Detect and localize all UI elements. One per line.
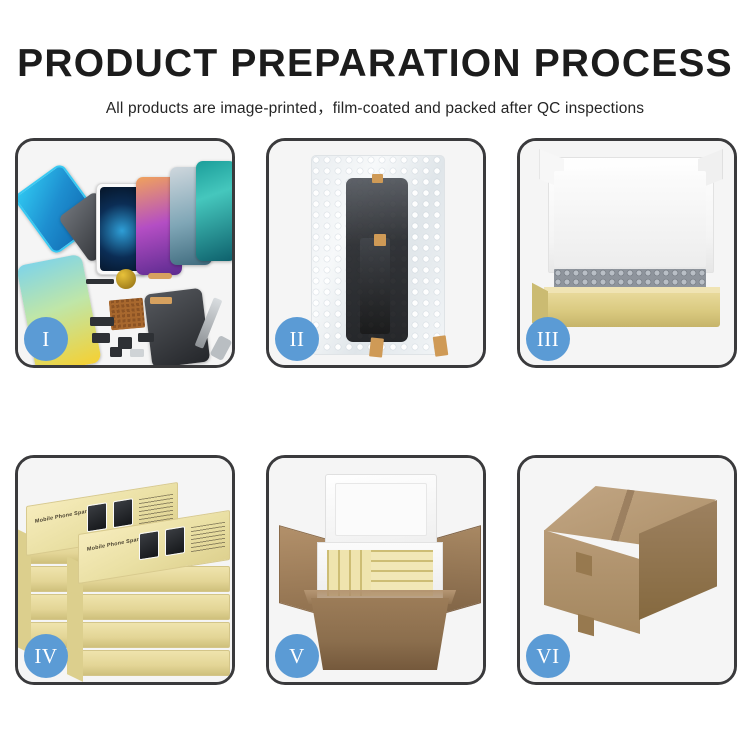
process-step-6: VI — [517, 455, 737, 685]
step-badge-3: III — [526, 317, 570, 361]
tape-icon — [374, 234, 386, 246]
sim-tray-icon — [130, 349, 144, 357]
process-step-5: V — [266, 455, 486, 685]
small-part-icon — [90, 317, 114, 326]
process-step-2: II — [266, 138, 486, 368]
page-title: PRODUCT PREPARATION PROCESS — [0, 0, 750, 83]
box-label-phone-icon — [113, 498, 133, 528]
box-label-phone-icon — [165, 526, 185, 556]
foam-box-lid-icon — [325, 474, 437, 546]
foam-sheet-icon — [554, 171, 706, 267]
infographic-page: PRODUCT PREPARATION PROCESS All products… — [0, 0, 750, 750]
step-badge-6: VI — [526, 634, 570, 678]
yellow-boxes-inside-icon — [327, 550, 433, 596]
small-part-icon — [138, 333, 154, 342]
box-label-spec-lines — [191, 522, 225, 553]
small-part-icon — [92, 333, 110, 343]
flex-cable-icon — [86, 279, 114, 284]
box-label-phone-icon — [139, 530, 159, 560]
tape-icon — [372, 174, 383, 183]
small-part-icon — [110, 347, 122, 357]
carton-tape-icon — [576, 552, 592, 577]
screwdriver-icon — [210, 335, 232, 361]
step-badge-4: IV — [24, 634, 68, 678]
process-step-1: I — [15, 138, 235, 368]
gold-flex-icon — [150, 297, 172, 304]
process-step-grid: I II — [15, 138, 737, 685]
tape-icon — [433, 335, 449, 357]
page-subtitle: All products are image-printed，film-coat… — [0, 83, 750, 118]
phone-teal-icon — [196, 161, 232, 261]
stacked-box-icon — [78, 594, 230, 620]
speaker-module-icon — [116, 269, 136, 289]
process-step-4: Mobile Phone Spare Parts Mobile Phone Sp… — [15, 455, 235, 685]
carton-tape-icon — [578, 614, 594, 637]
gold-connector-icon — [148, 273, 172, 279]
step-badge-1: I — [24, 317, 68, 361]
carton-body-icon — [305, 598, 455, 670]
step-badge-2: II — [275, 317, 319, 361]
process-step-3: III — [517, 138, 737, 368]
box-label-phone-icon — [87, 502, 107, 532]
box-front-panel-icon — [544, 293, 720, 327]
header: PRODUCT PREPARATION PROCESS All products… — [0, 0, 750, 118]
step-badge-5: V — [275, 634, 319, 678]
stacked-box-icon — [78, 650, 230, 676]
wrapped-screen-icon — [346, 178, 408, 342]
chip-array-icon — [109, 298, 145, 331]
bubble-wrap-bag-icon — [311, 155, 445, 355]
stacked-box-icon — [78, 622, 230, 648]
tape-icon — [369, 337, 384, 357]
